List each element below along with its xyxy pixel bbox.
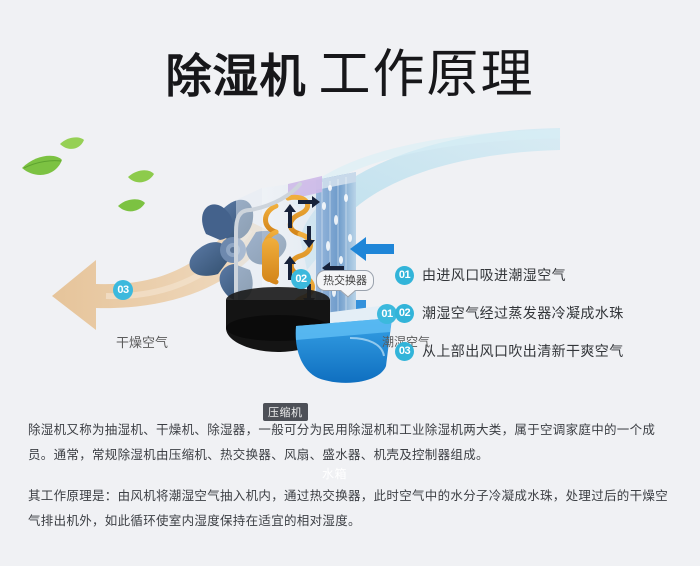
label-dry-air: 干燥空气 <box>116 332 168 351</box>
title-primary: 除湿机 <box>165 50 306 102</box>
legend-text-02: 潮湿空气经过蒸发器冷凝成水珠 <box>422 303 624 323</box>
legend-badge-03: 03 <box>395 342 414 361</box>
legend-text-01: 由进风口吸进潮湿空气 <box>422 265 566 285</box>
title-secondary: 工作原理 <box>318 46 534 104</box>
legend-badge-01: 01 <box>395 266 414 285</box>
list-item: 01 由进风口吸进潮湿空气 <box>395 256 695 294</box>
inlet-arrow <box>350 237 394 261</box>
legend-list: 01 由进风口吸进潮湿空气 02 潮湿空气经过蒸发器冷凝成水珠 03 从上部出风… <box>395 256 695 370</box>
leaf-icon-group <box>22 137 154 211</box>
accumulator <box>262 238 279 282</box>
description-block: 除湿机又称为抽湿机、干燥机、除湿器，一般可分为民用除湿机和工业除湿机两大类，属于… <box>28 418 676 534</box>
list-item: 02 潮湿空气经过蒸发器冷凝成水珠 <box>395 294 695 332</box>
water-tank <box>296 318 392 383</box>
paragraph-2: 其工作原理是：由风机将潮湿空气抽入机内，通过热交换器，此时空气中的水分子冷凝成水… <box>28 484 676 534</box>
list-item: 03 从上部出风口吹出清新干爽空气 <box>395 332 695 370</box>
paragraph-1: 除湿机又称为抽湿机、干燥机、除湿器，一般可分为民用除湿机和工业除湿机两大类，属于… <box>28 418 676 468</box>
legend-text-03: 从上部出风口吹出清新干爽空气 <box>422 341 624 361</box>
diagram-badge-03: 03 <box>113 280 133 300</box>
label-heat-exchanger: 热交换器 <box>316 270 374 291</box>
legend-badge-02: 02 <box>395 304 414 323</box>
page-title: 除湿机工作原理 <box>0 32 700 107</box>
diagram-badge-02: 02 <box>291 269 311 289</box>
diagram-badge-01: 01 <box>377 304 397 324</box>
